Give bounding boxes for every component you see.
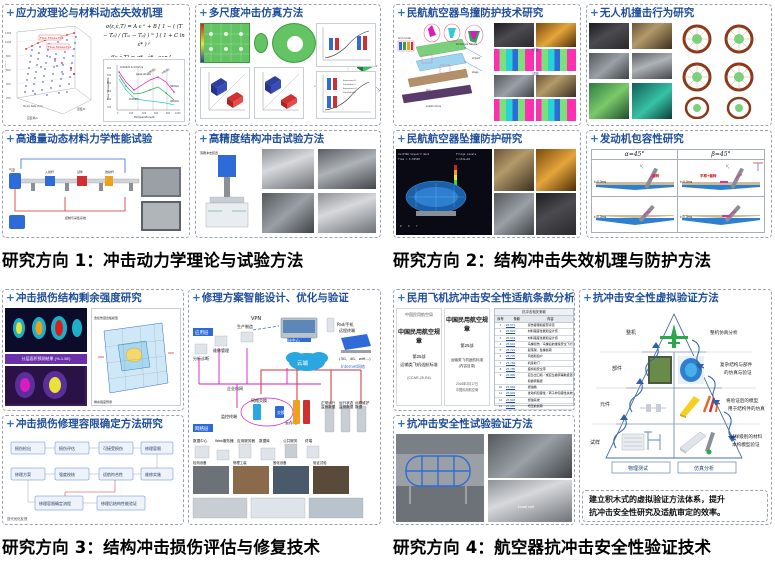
svg-text:适航符合性: 适航符合性 — [103, 471, 123, 477]
svg-text:修理工装: 修理工装 — [233, 460, 247, 465]
svg-text:的仿真与验证: 的仿真与验证 — [724, 369, 752, 376]
svg-text:(3G、4G、wifi…): (3G、4G、wifi…) — [339, 356, 371, 361]
svg-text:含损伤层合板模型: 含损伤层合板模型 — [94, 315, 118, 320]
svg-text:云端: 云端 — [297, 359, 309, 367]
svg-text:复杂结构与部件: 复杂结构与部件 — [720, 361, 753, 368]
plus-icon: + — [6, 418, 15, 430]
svg-text:应用层: 应用层 — [195, 329, 209, 336]
svg-text:物理测试: 物理测试 — [628, 465, 648, 472]
svg-text:气室: 气室 — [9, 167, 15, 172]
svg-text:本构模型验证: 本构模型验证 — [732, 441, 760, 448]
panel-body: LS-DYNA keyword deck Time = 0.04500 Frin… — [394, 147, 580, 238]
svg-text:企业内网: 企业内网 — [227, 385, 243, 391]
table-cell: t=0.3ms — [678, 197, 764, 233]
svg-text:Simulation-2: Simulation-2 — [343, 91, 356, 94]
simulation-contour-1 — [494, 49, 534, 71]
svg-text:Time = 0.04500: Time = 0.04500 — [398, 157, 420, 161]
svg-text:检测设备: 检测设备 — [193, 460, 207, 465]
panel-crashworthiness[interactable]: +民航航空器坠撞防护研究 LS-DYNA keyword deck Time =… — [393, 130, 581, 238]
svg-text:修理后结构性能验证: 修理后结构性能验证 — [101, 500, 137, 506]
velocity-label: Vr — [640, 164, 643, 170]
constitutive-equation: σ(ε,ε̇,T) = A ε ⁿ + B [ 1 − ( (T − T₀) /… — [103, 23, 185, 57]
quadrant-1-body: +应力波理论与材料动态失效机理 — [0, 0, 383, 243]
svg-text:控制与采集系统: 控制与采集系统 — [65, 215, 86, 220]
post-crash-photo-2 — [536, 193, 576, 235]
quadrant-4-caption: 研究方向 4：航空器抗冲击安全性验证技术 — [391, 530, 774, 558]
ccar-regulation-page-1: 中国民用航空局 中国民用航空规章 第25部 运输类飞机适航标准 (CCAR-25… — [396, 308, 442, 406]
correlation-plot-2 — [254, 67, 304, 119]
panel-title: +发动机包容性研究 — [587, 131, 771, 147]
panel-title: +民航航空器坠撞防护研究 — [394, 131, 580, 147]
svg-text:z: z — [376, 65, 378, 68]
svg-text:skin: skin — [426, 89, 431, 92]
uav-fem-models — [677, 23, 765, 119]
svg-text:温度/K: 温度/K — [77, 107, 86, 111]
svg-text:数据: 数据 — [355, 404, 363, 409]
svg-text:试样: 试样 — [590, 439, 600, 446]
doc-title: 中国民用航空规章 — [445, 315, 489, 333]
conclusion-line-2: 抗冲击安全性研究及适航审定的效率。 — [589, 507, 725, 519]
repair-tolerance-flowchart: 损伤检出 损伤评估 可接受损伤 修理容限 修理方案 强度校核 适航符合性 维修实… — [5, 434, 181, 522]
panel-body: birdstrike failure bird model impact sta… — [394, 21, 580, 126]
panel-airworthiness-clause-analysis[interactable]: +民用飞机抗冲击安全性适航条款分析 中国民用航空局 中国民用航空规章 第25部 … — [393, 289, 575, 411]
correlation-plot-1 — [200, 67, 250, 119]
panel-body: Load cell — [394, 432, 574, 525]
svg-text:Experiment-2: Experiment-2 — [343, 87, 357, 90]
panel-body: 损伤检出 损伤评估 可接受损伤 修理容限 修理方案 强度校核 适航符合性 维修实… — [3, 432, 183, 525]
damage-contour-plot — [5, 366, 87, 406]
svg-text:4000/s: 4000/s — [170, 99, 179, 103]
panel-body: 应用层 网络层 — [189, 306, 380, 525]
table-cell: t=0.3ms — [592, 197, 678, 233]
plus-icon: + — [397, 7, 406, 19]
plus-icon: + — [397, 418, 406, 430]
table-rows: 125.571损伤容限和疲劳评定 225.603材料强度性能和设计值 325.6… — [495, 323, 573, 411]
svg-text:损伤检出: 损伤检出 — [15, 445, 31, 451]
annotation-label: 平移+偏转 — [700, 174, 716, 179]
table-row: t=0.3ms t=0.3ms — [592, 197, 764, 233]
svg-text:400: 400 — [142, 112, 147, 115]
panel-birdstrike-protection[interactable]: +民航航空器鸟撞防护技术研究 — [393, 4, 581, 126]
svg-text:强度校核: 强度校核 — [59, 471, 75, 477]
plus-icon: + — [6, 7, 15, 19]
svg-text:600: 600 — [107, 67, 112, 70]
svg-text:用于结构件的仿真: 用于结构件的仿真 — [728, 405, 765, 412]
table-cell: t=0.0ms Vr 平移+偏转 — [678, 160, 764, 196]
panel-title: +民航航空器鸟撞防护技术研究 — [394, 5, 580, 21]
svg-text:800: 800 — [6, 55, 11, 58]
svg-text:substructure: substructure — [426, 105, 442, 108]
svg-text:IH中心: IH中心 — [287, 337, 301, 344]
svg-text:交换: 交换 — [277, 409, 285, 415]
svg-text:Flow Stress/MPa: Flow Stress/MPa — [106, 77, 110, 100]
research-poster: +应力波理论与材料动态失效机理 — [0, 0, 775, 580]
panel-title: +应力波理论与材料动态失效机理 — [3, 5, 189, 21]
plus-icon: + — [590, 7, 599, 19]
svg-text:迭代优化反馈: 迭代优化反馈 — [7, 516, 28, 521]
legend-label: 分层面积预测结果 (%-1.5E) — [5, 354, 87, 364]
svg-text:应变率/s: 应变率/s — [27, 116, 38, 120]
panel-virtual-verification[interactable]: +抗冲击安全性虚拟验证方法 — [579, 289, 772, 525]
quadrant-2-body: +民航航空器鸟撞防护技术研究 — [391, 0, 774, 243]
crash-simulation-screen: LS-DYNA keyword deck Time = 0.04500 Frin… — [396, 149, 492, 235]
svg-text:维修实施: 维修实施 — [145, 471, 161, 477]
col-header-clause: 条款 — [506, 316, 528, 322]
regulation-clause-table: 抗冲击相关条款 序号 条款 内容 125.571损伤容限和疲劳评定 225.60… — [494, 308, 574, 406]
svg-text:impact: impact — [472, 57, 480, 60]
response-curve-2: Experiment-1Simulation-1 Experiment-2Sim… — [316, 71, 376, 119]
panel-repair-tolerance[interactable]: +冲击损伤修理容限确定方法研究 — [2, 415, 184, 525]
wing-leading-edge-impact-test-photo — [494, 23, 534, 47]
svg-text:透射杆: 透射杆 — [105, 169, 114, 174]
table-group-header: 抗冲击相关条款 — [495, 309, 573, 316]
flow-stress-temperature-chart: 0.001/0.1/1/mm/s peak stress 0.001/s 100… — [103, 59, 185, 122]
svg-text:分析诊断: 分析诊断 — [193, 355, 209, 361]
rve-cell-large — [272, 23, 316, 63]
uav-impact-test-photo-1 — [589, 23, 629, 49]
birdstrike-simulation-sequence: birdstrike failure bird model impact sta… — [396, 23, 492, 123]
panel-body: α=45° β=45° t=0.0ms Vr 偏转 — [587, 147, 771, 238]
svg-text:1000: 1000 — [175, 112, 181, 115]
svg-text:试样级别的材料: 试样级别的材料 — [730, 433, 763, 440]
svg-text:损伤评估: 损伤评估 — [59, 445, 75, 451]
time-label: t=0.0ms — [594, 180, 606, 184]
building-block-pyramid: 整机 部件 元件 试样 整机仿真分析 复杂结构与部件 的仿真与验证 将验证后的模… — [582, 308, 768, 486]
svg-text:400: 400 — [6, 83, 11, 86]
fuselage-drop-test-photo — [488, 434, 572, 478]
panel-stress-wave-theory[interactable]: +应力波理论与材料动态失效机理 — [2, 4, 190, 126]
velocity-label: Vr — [726, 164, 729, 170]
time-label: t=0.3ms — [594, 215, 606, 219]
panel-residual-strength[interactable]: +冲击损伤结构剩余强度研究 — [2, 289, 184, 411]
svg-text:可接受损伤: 可接受损伤 — [103, 445, 123, 451]
svg-text:1400: 1400 — [5, 32, 12, 35]
panel-uav-impact-behaviour[interactable]: +无人机撞击行为研究 — [586, 4, 772, 126]
quadrant-1-caption: 研究方向 1：冲击动力学理论与试验方法 — [0, 243, 383, 271]
svg-text:修理方案: 修理方案 — [15, 471, 31, 477]
quadrant-3-body: +冲击损伤结构剩余强度研究 — [0, 287, 383, 530]
table-header-alpha: α=45° — [592, 150, 678, 160]
panel-body: 中国民用航空局 中国民用航空规章 第25部 运输类飞机适航标准 (CCAR-25… — [394, 306, 574, 411]
panel-repair-scheme-design[interactable]: +修理方案智能设计、优化与验证 应用层 网络层 — [188, 289, 381, 525]
panel-title: +高通量动态材料力学性能试验 — [3, 131, 189, 147]
svg-text:修理容限确定流程: 修理容限确定流程 — [39, 500, 71, 506]
ccar-regulation-page-2: 中国民用航空规章 第25部 运输类飞机适航标准(内容目录) 2016年3月17日… — [444, 308, 490, 406]
svg-text:stage: stage — [472, 71, 479, 74]
uav-fem-model-detail-2 — [632, 83, 672, 119]
quadrant-4: +民用飞机抗冲击安全性适航条款分析 中国民用航空局 中国民用航空规章 第25部 … — [391, 287, 774, 558]
panel-title: +冲击损伤结构剩余强度研究 — [3, 290, 183, 306]
svg-text:修理容限: 修理容限 — [145, 445, 161, 451]
uav-impact-test-photo-2 — [632, 23, 672, 49]
quadrant-4-body: +民用飞机抗冲击安全性适航条款分析 中国民用航空局 中国民用航空规章 第25部 … — [391, 287, 774, 530]
svg-text:Strain Rate (1/s): Strain Rate (1/s) — [23, 105, 43, 108]
svg-text:监测数据: 监测数据 — [321, 404, 336, 409]
panel-multiscale-simulation[interactable]: +多尺度冲击仿真方法 — [195, 4, 381, 126]
plus-icon: + — [590, 133, 599, 145]
panel-title: +修理方案智能设计、优化与验证 — [189, 290, 380, 306]
simulation-contour-4 — [536, 99, 576, 121]
simulation-contour-3 — [494, 99, 534, 121]
svg-text:100: 100 — [107, 106, 112, 109]
svg-text:800: 800 — [166, 112, 171, 115]
plus-icon: + — [199, 133, 208, 145]
svg-text:监控终端: 监控终端 — [221, 413, 237, 419]
simulation-contour-2 — [536, 49, 576, 71]
panel-body: Flow Stress-TC4 Flow Stress-Ti-1 流动应力/MP… — [3, 21, 189, 126]
svg-text:部件: 部件 — [612, 365, 622, 372]
svg-text:3000/s: 3000/s — [170, 84, 179, 88]
svg-text:200: 200 — [107, 98, 112, 101]
birdstrike-test-photo — [536, 23, 576, 47]
quadrant-3-caption: 研究方向 3：结构冲击损伤评估与修复技术 — [0, 530, 383, 558]
svg-text:0.001/0.1/1/mm/s: 0.001/0.1/1/mm/s — [120, 65, 144, 69]
quadrant-2-caption: 研究方向 2：结构冲击失效机理与防护方法 — [391, 243, 774, 271]
response-curve-1 — [316, 23, 376, 67]
svg-text:数据中心: 数据中心 — [193, 438, 208, 443]
instrument-rack-photo — [318, 193, 376, 233]
plus-icon: + — [199, 7, 208, 19]
uav-impact-test-photo-4 — [632, 53, 672, 79]
svg-text:元件: 元件 — [600, 401, 610, 408]
conclusion-box: 建立积木式的虚拟验证方法体系，提升 抗冲击安全性研究及适航审定的效率。 — [582, 490, 768, 522]
panel-title: +高精度结构冲击试验方法 — [196, 131, 380, 147]
svg-text:将验证后的模型: 将验证后的模型 — [726, 397, 759, 404]
panel-body: 分层面积预测结果 (%-1.5E) — [3, 306, 183, 411]
svg-text:试件: 试件 — [77, 169, 83, 174]
split-hopkinson-bar-rig: 气室 入射杆 试件 透射杆 控制与采集系统 — [5, 149, 185, 235]
svg-text:固化设备: 固化设备 — [273, 460, 287, 465]
svg-text:Flow Stress-Ti-1: Flow Stress-Ti-1 — [48, 45, 71, 49]
plus-icon: + — [192, 292, 201, 304]
plus-icon: + — [6, 292, 15, 304]
impact-load-test-photo: Load cell — [488, 480, 572, 522]
svg-text:整机: 整机 — [626, 329, 636, 336]
svg-text:400: 400 — [107, 82, 112, 85]
uav-fem-model-detail-1 — [589, 83, 629, 119]
panel-title: +抗冲击安全性虚拟验证方法 — [580, 290, 771, 306]
svg-text:birdstrike failure: birdstrike failure — [456, 42, 478, 46]
sim-label-2: 试验 — [532, 71, 539, 76]
uav-impact-test-photo-3 — [589, 53, 629, 79]
panel-body: 整机 部件 元件 试样 整机仿真分析 复杂结构与部件 的仿真与验证 将验证后的模… — [580, 306, 771, 525]
svg-text:落锤冲击装置: 落锤冲击装置 — [200, 150, 218, 155]
panel-engine-containment[interactable]: +发动机包容性研究 α=45° β=45° — [586, 130, 772, 238]
svg-text:600: 600 — [6, 69, 11, 72]
svg-text:1000: 1000 — [5, 41, 12, 44]
svg-text:网络交换: 网络交换 — [251, 397, 267, 403]
delamination-legend: 分层面积预测结果 (%-1.5E) — [5, 354, 87, 364]
panel-test-verification[interactable]: +抗冲击安全性试验验证方法 — [393, 415, 575, 525]
svg-text:4.132e+02: 4.132e+02 — [456, 157, 470, 161]
panel-title: +抗冲击安全性试验验证方法 — [394, 416, 574, 432]
col-header-content: 内容 — [528, 316, 573, 322]
svg-text:300: 300 — [107, 90, 112, 93]
svg-text:终端: 终端 — [305, 438, 313, 443]
quadrant-3: +冲击损伤结构剩余强度研究 — [0, 287, 383, 558]
quadrant-1: +应力波理论与材料动态失效机理 — [0, 0, 383, 271]
panel-high-precision-impact-test[interactable]: +高精度结构冲击试验方法 — [195, 130, 381, 238]
col-header-no: 序号 — [495, 316, 506, 322]
plus-icon: + — [397, 292, 406, 304]
panel-high-throughput-material-test[interactable]: +高通量动态材料力学性能试验 — [2, 130, 190, 238]
wing-section-photo — [494, 75, 534, 97]
svg-text:远程终端: 远程终端 — [339, 327, 355, 333]
svg-text:剩余强度预测: 剩余强度预测 — [94, 399, 112, 404]
svg-text:LS-DYNA keyword deck: LS-DYNA keyword deck — [398, 152, 430, 156]
svg-text:生产制造: 生产制造 — [237, 323, 253, 329]
table-header-beta: β=45° — [678, 150, 764, 160]
cloud-network-architecture: 应用层 网络层 — [191, 308, 377, 522]
svg-text:500: 500 — [107, 74, 112, 77]
svg-text:Fringe Levels: Fringe Levels — [456, 152, 477, 156]
plus-icon: + — [6, 133, 15, 145]
plus-icon: + — [583, 292, 592, 304]
svg-text:验证试验: 验证试验 — [313, 460, 327, 465]
panel-title: +民用飞机抗冲击安全性适航条款分析 — [394, 290, 574, 306]
post-crash-photo-1 — [494, 193, 534, 235]
test-frame-photo — [262, 193, 314, 233]
panel-body: Mesh convergence analysis Crash simulati… — [196, 21, 380, 126]
residual-strength-model: 含损伤层合板模型 剩余强度预测 — [91, 308, 181, 406]
svg-text:0.001/s: 0.001/s — [129, 97, 139, 101]
dic-measurement-photo — [318, 149, 376, 189]
panel-title: +多尺度冲击仿真方法 — [196, 5, 380, 21]
drop-test-photo — [494, 149, 534, 191]
svg-text:600: 600 — [154, 112, 159, 115]
time-label: t=0.3ms — [680, 215, 692, 219]
conclusion-line-1: 建立积木式的虚拟验证方法体系，提升 — [589, 494, 725, 506]
svg-text:应用服务器: 应用服务器 — [237, 438, 255, 443]
full-scale-test-rig-photo — [396, 434, 484, 522]
svg-text:整机仿真分析: 整机仿真分析 — [710, 329, 738, 336]
svg-text:数据库: 数据库 — [259, 438, 270, 443]
table-row: t=0.0ms Vr 偏转 t=0. — [592, 160, 764, 197]
svg-text:监测数据: 监测数据 — [339, 404, 354, 409]
panel-body — [587, 21, 771, 126]
engine-containment-table: α=45° β=45° t=0.0ms Vr 偏转 — [591, 149, 765, 233]
quadrant-2: +民航航空器鸟撞防护技术研究 — [391, 0, 774, 271]
svg-text:入射杆: 入射杆 — [45, 169, 54, 174]
doc-title: 中国民用航空规章 — [397, 327, 441, 345]
svg-text:bird model: bird model — [398, 37, 411, 40]
microstructure-mesh — [200, 23, 250, 63]
svg-text:网络层: 网络层 — [195, 425, 209, 432]
svg-text:200: 200 — [6, 97, 11, 100]
svg-text:Web服务器: Web服务器 — [215, 438, 234, 443]
panel-title: +无人机撞击行为研究 — [587, 5, 771, 21]
rve-cell-small — [254, 33, 268, 53]
c-scan-damage-map — [5, 308, 87, 352]
table-cell: t=0.0ms Vr 偏转 — [592, 160, 678, 196]
svg-text:公共服务: 公共服务 — [283, 438, 298, 443]
svg-text:Pad/手机: Pad/手机 — [337, 321, 354, 327]
sim-label-1: 仿真 — [532, 47, 539, 52]
svg-text:Experiment-1: Experiment-1 — [343, 79, 357, 82]
svg-text:Flow Stress-TC4: Flow Stress-TC4 — [40, 36, 64, 40]
load-cell-label: Load cell — [518, 504, 534, 509]
3d-scatter-plot: Flow Stress-TC4 Flow Stress-Ti-1 流动应力/MP… — [5, 22, 100, 122]
panel-title: +冲击损伤修理容限确定方法研究 — [3, 416, 183, 432]
svg-text:200: 200 — [129, 112, 134, 115]
svg-text:仿真分析: 仿真分析 — [694, 465, 714, 472]
seat-frame-photo — [536, 149, 576, 191]
svg-text:Internet网络: Internet网络 — [341, 363, 365, 369]
svg-text:Temperature/K: Temperature/K — [133, 115, 155, 119]
svg-text:Simulation-1: Simulation-1 — [343, 83, 356, 86]
time-label: t=0.0ms — [680, 180, 692, 184]
impact-damage-photo — [536, 75, 576, 97]
drop-tower-schematic: 落锤冲击装置 — [198, 149, 258, 233]
svg-text:维修管理: 维修管理 — [213, 347, 229, 353]
panel-body: 气室 入射杆 试件 透射杆 控制与采集系统 — [3, 147, 189, 238]
svg-text:VPN: VPN — [251, 316, 261, 322]
plus-icon: + — [397, 133, 406, 145]
high-speed-camera-photo — [262, 149, 314, 189]
panel-body: 落锤冲击装置 — [196, 147, 380, 238]
